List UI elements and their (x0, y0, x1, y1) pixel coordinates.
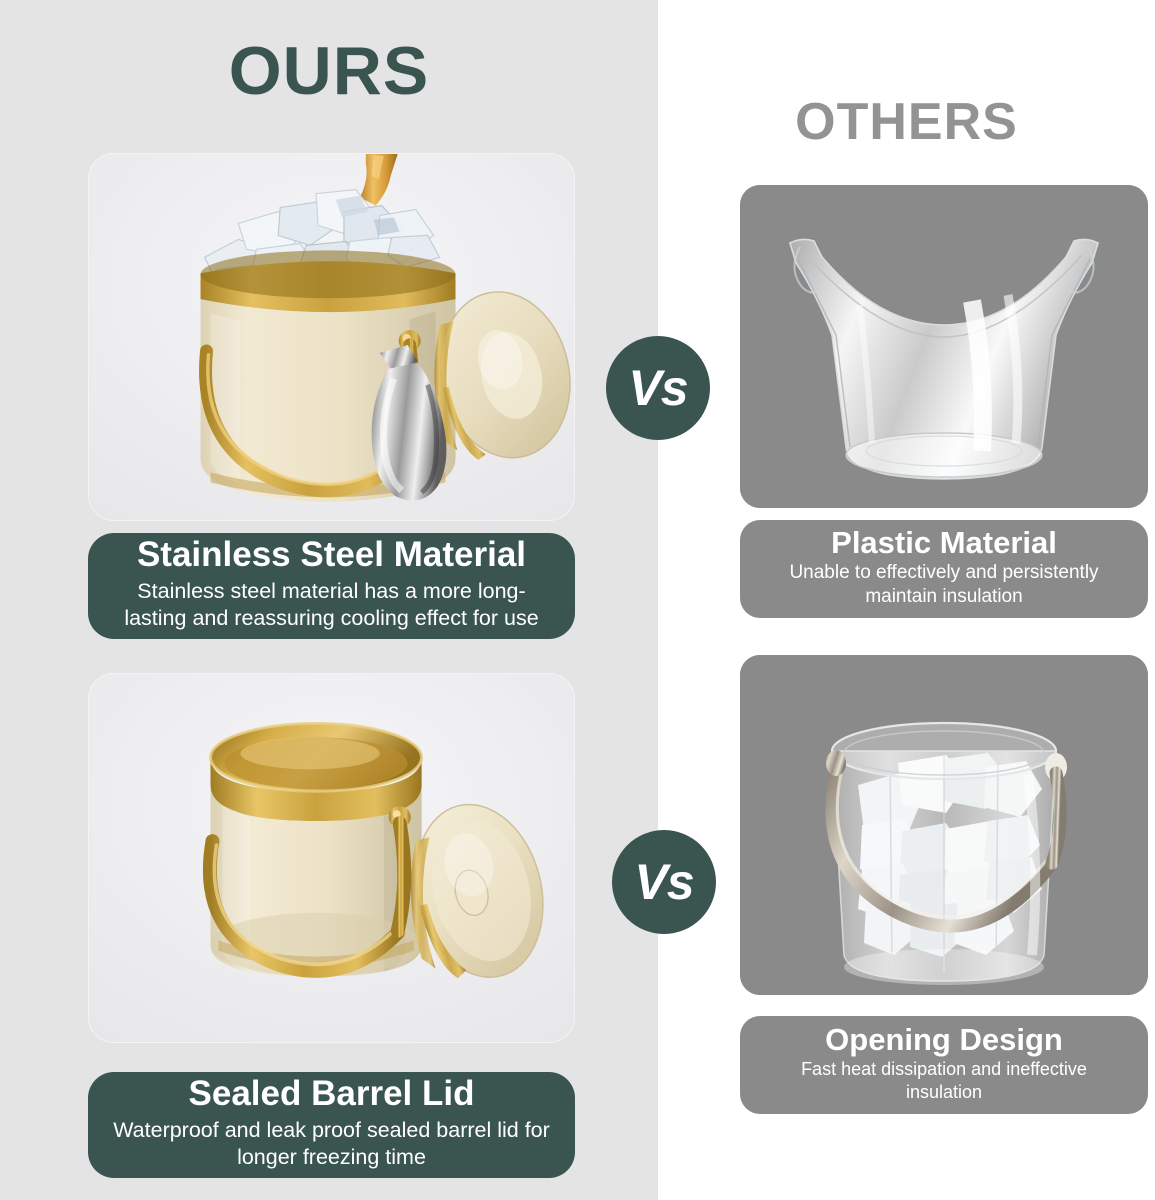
ours-product-image-2 (88, 673, 575, 1043)
plastic-ice-bucket-illustration (740, 185, 1148, 508)
sealed-ice-bucket-illustration (89, 674, 574, 1042)
others-feature-title-2: Opening Design (762, 1023, 1126, 1056)
ours-feature-panel-2: Sealed Barrel Lid Waterproof and leak pr… (88, 1072, 575, 1178)
ours-product-image-1 (88, 153, 575, 521)
others-product-image-2 (740, 655, 1148, 995)
others-product-image-1 (740, 185, 1148, 508)
ours-feature-title-2: Sealed Barrel Lid (110, 1075, 553, 1113)
ours-feature-title-1: Stainless Steel Material (110, 536, 553, 574)
ours-feature-panel-1: Stainless Steel Material Stainless steel… (88, 533, 575, 639)
others-feature-description-1: Unable to effectively and persistently m… (762, 561, 1126, 608)
heading-others: OTHERS (658, 92, 1155, 152)
others-feature-title-1: Plastic Material (762, 526, 1126, 559)
others-feature-description-2: Fast heat dissipation and ineffective in… (762, 1058, 1126, 1103)
ours-feature-description-1: Stainless steel material has a more long… (110, 578, 553, 631)
heading-ours: OURS (0, 32, 658, 110)
ice-bucket-with-ice-illustration (89, 154, 574, 520)
comparison-infographic: OURS OTHERS (0, 0, 1155, 1200)
vs-badge-2: Vs (612, 830, 716, 934)
others-feature-panel-1: Plastic Material Unable to effectively a… (740, 520, 1148, 618)
others-feature-panel-2: Opening Design Fast heat dissipation and… (740, 1016, 1148, 1114)
vs-badge-1: Vs (606, 336, 710, 440)
plastic-bucket-with-ice-illustration (740, 655, 1148, 995)
ours-feature-description-2: Waterproof and leak proof sealed barrel … (110, 1117, 553, 1170)
